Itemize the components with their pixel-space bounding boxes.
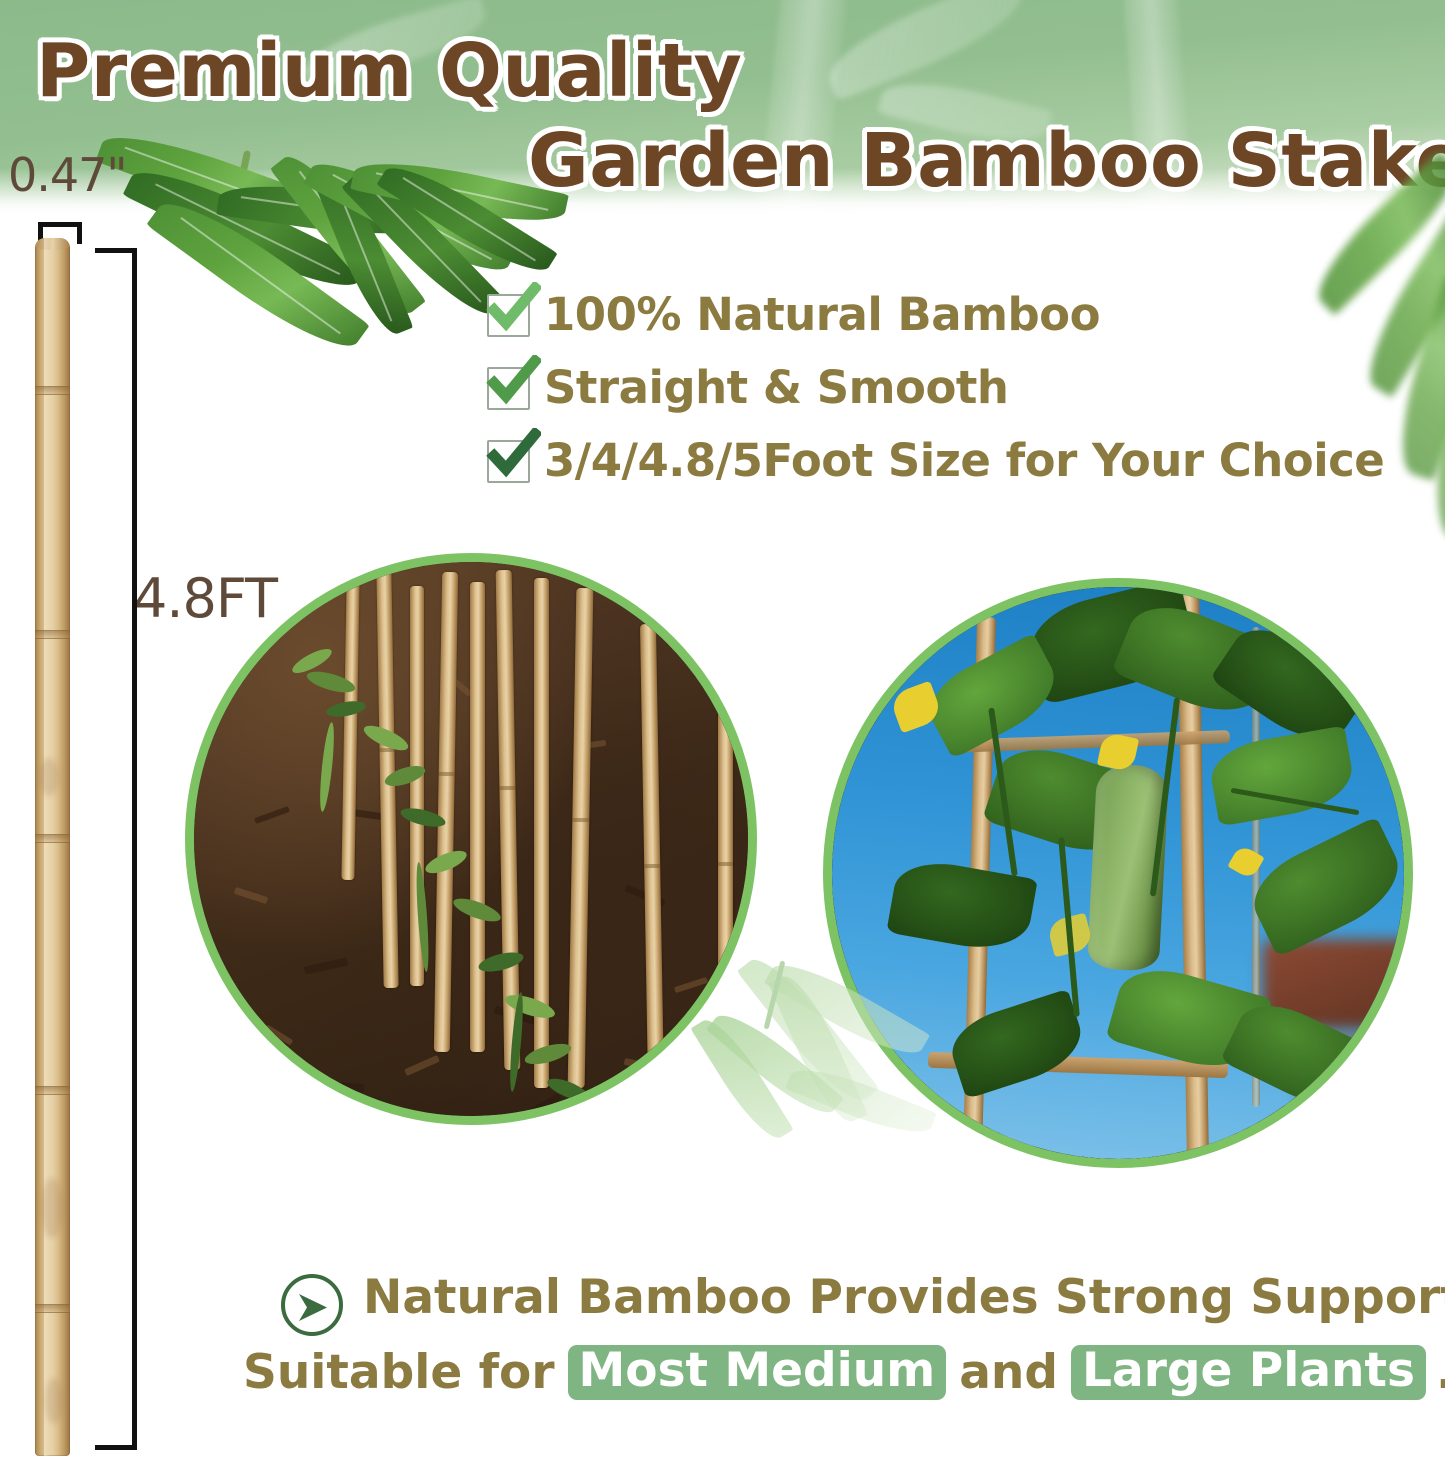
- photo-content: [832, 587, 1404, 1159]
- stake-node: [35, 834, 70, 843]
- checkbox-checked-icon[interactable]: [487, 367, 530, 410]
- checkbox-checked-icon[interactable]: [487, 294, 530, 337]
- feature-item: 100% Natural Bamboo: [487, 288, 1422, 361]
- feature-item: 3/4/4.8/5Foot Size for Your Choice: [487, 434, 1422, 507]
- stake-node: [35, 386, 70, 395]
- height-bracket-bottom: [95, 1445, 137, 1450]
- feature-label: 100% Natural Bamboo: [544, 288, 1100, 341]
- title-line-2: Garden Bamboo Stakes: [528, 118, 1445, 204]
- callout-tail-text: .: [1426, 1345, 1445, 1400]
- width-dimension-label: 0.47": [8, 148, 127, 202]
- width-bracket-top: [38, 222, 82, 227]
- cucumber-on-bamboo-stakes-photo[interactable]: [823, 578, 1413, 1168]
- callout-mid-text: and: [946, 1345, 1071, 1400]
- feature-label: Straight & Smooth: [544, 361, 1008, 414]
- stake-blemish: [41, 1178, 63, 1238]
- highlight-most-medium: Most Medium: [568, 1345, 947, 1400]
- arrow-right-circle-icon: [281, 1274, 343, 1336]
- stake-blemish: [39, 758, 59, 796]
- title-line-1: Premium Quality: [36, 28, 742, 114]
- checkbox-checked-icon[interactable]: [487, 440, 530, 483]
- width-bracket-right: [77, 222, 82, 244]
- highlight-large-plants: Large Plants: [1071, 1345, 1426, 1400]
- callout-lead-text: Suitable for: [243, 1345, 568, 1400]
- feature-list: 100% Natural Bamboo Straight & Smooth 3/…: [487, 288, 1422, 507]
- stake-node: [35, 1086, 70, 1095]
- photo-content: [194, 562, 748, 1116]
- feature-label: 3/4/4.8/5Foot Size for Your Choice: [544, 434, 1384, 487]
- callout-line-1: Natural Bamboo Provides Strong Support.: [363, 1270, 1445, 1325]
- bamboo-stake: [470, 582, 485, 1052]
- stake-cap: [35, 238, 70, 250]
- stake-node: [35, 630, 70, 639]
- infographic-canvas: Premium Quality Garden Bamboo Stakes 0.4…: [0, 0, 1445, 1457]
- height-bracket-top: [95, 248, 137, 253]
- bamboo-stakes-in-mulch-photo[interactable]: [185, 553, 757, 1125]
- callout-line-2: Suitable for Most Medium and Large Plant…: [243, 1345, 1445, 1400]
- feature-item: Straight & Smooth: [487, 361, 1422, 434]
